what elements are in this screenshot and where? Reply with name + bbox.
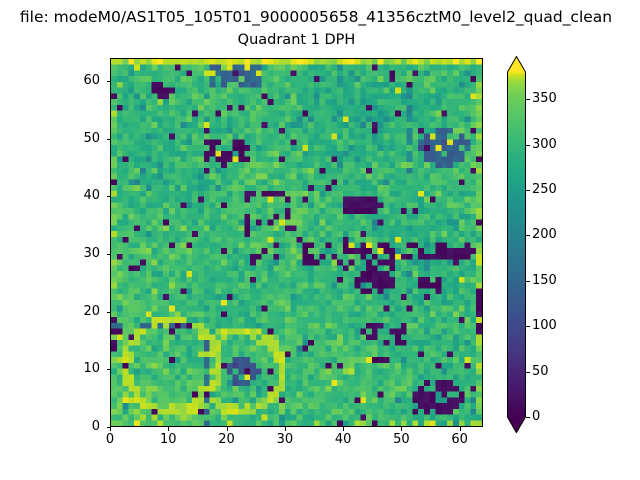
x-tick-mark (285, 427, 286, 431)
colorbar-extend-max-arrow (507, 56, 525, 72)
x-tick-mark (401, 427, 402, 431)
x-tick-label: 0 (90, 433, 130, 447)
colorbar-extend-min-arrow (507, 417, 525, 433)
y-tick-mark (107, 81, 111, 82)
y-tick-label: 0 (56, 420, 100, 434)
colorbar (507, 56, 526, 433)
x-tick-label: 20 (207, 433, 247, 447)
axes-title: Quadrant 1 DPH (110, 31, 483, 49)
x-tick-mark (460, 427, 461, 431)
y-tick-mark (107, 196, 111, 197)
y-tick-mark (107, 312, 111, 313)
colorbar-gradient (507, 72, 526, 417)
y-tick-mark (107, 139, 111, 140)
x-tick-label: 60 (440, 433, 480, 447)
x-tick-mark (343, 427, 344, 431)
suptitle-text: file: modeM0/AS1T05_105T01_9000005658_41… (20, 6, 612, 28)
x-tick-label: 50 (381, 433, 421, 447)
y-tick-label: 50 (56, 132, 100, 146)
x-tick-mark (110, 427, 111, 431)
x-tick-label: 10 (148, 433, 188, 447)
colorbar-tick-label: 200 (532, 228, 557, 242)
colorbar-tick-label: 350 (532, 92, 557, 106)
y-tick-mark (107, 254, 111, 255)
x-tick-mark (168, 427, 169, 431)
colorbar-tick-mark (526, 99, 530, 100)
colorbar-tick-label: 100 (532, 319, 557, 333)
heatmap-axes (110, 58, 483, 427)
colorbar-tick-label: 50 (532, 365, 549, 379)
y-tick-label: 60 (56, 74, 100, 88)
colorbar-tick-label: 250 (532, 183, 557, 197)
x-tick-label: 30 (265, 433, 305, 447)
figure-suptitle: file: modeM0/AS1T05_105T01_9000005658_41… (0, 6, 640, 28)
x-tick-label: 40 (323, 433, 363, 447)
y-tick-mark (107, 369, 111, 370)
y-tick-label: 10 (56, 362, 100, 376)
colorbar-tick-label: 0 (532, 410, 540, 424)
colorbar-tick-label: 300 (532, 138, 557, 152)
colorbar-tick-mark (526, 417, 530, 418)
x-tick-mark (227, 427, 228, 431)
colorbar-tick-mark (526, 372, 530, 373)
y-tick-mark (107, 427, 111, 428)
heatmap-image (111, 59, 482, 426)
colorbar-tick-mark (526, 190, 530, 191)
y-tick-label: 20 (56, 305, 100, 319)
colorbar-tick-mark (526, 281, 530, 282)
y-tick-label: 40 (56, 189, 100, 203)
colorbar-tick-mark (526, 235, 530, 236)
colorbar-tick-label: 150 (532, 274, 557, 288)
colorbar-tick-mark (526, 145, 530, 146)
matplotlib-figure: file: modeM0/AS1T05_105T01_9000005658_41… (0, 0, 640, 480)
y-tick-label: 30 (56, 247, 100, 261)
colorbar-tick-mark (526, 326, 530, 327)
